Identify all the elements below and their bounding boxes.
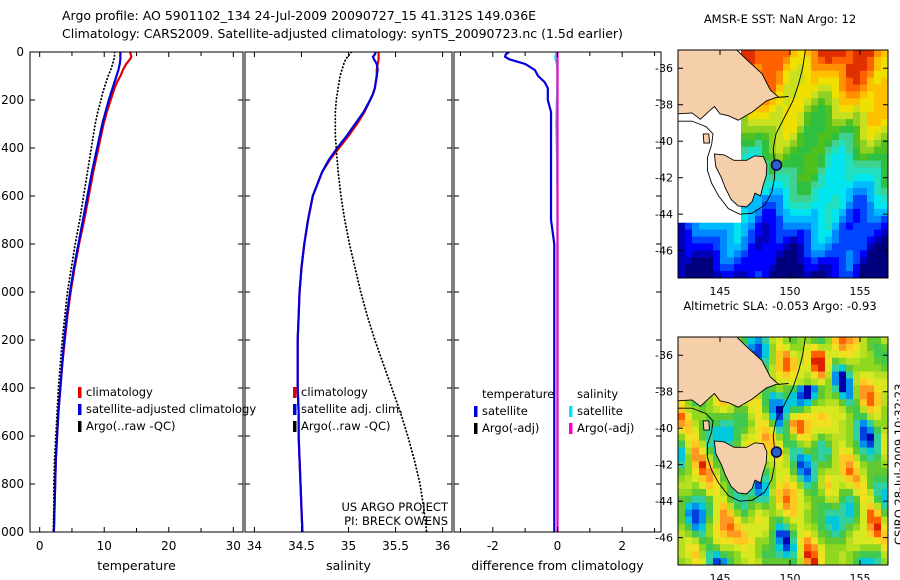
field-cell bbox=[818, 434, 826, 442]
field-cell bbox=[748, 264, 756, 272]
field-cell bbox=[790, 530, 798, 538]
field-cell bbox=[804, 271, 812, 279]
field-cell bbox=[790, 223, 798, 231]
field-cell bbox=[755, 496, 763, 504]
depth-tick-label: 1600 bbox=[0, 429, 24, 443]
field-cell bbox=[804, 243, 812, 251]
field-cell bbox=[839, 257, 847, 265]
field-cell bbox=[874, 78, 882, 86]
field-cell bbox=[699, 454, 707, 462]
field-cell bbox=[720, 551, 728, 559]
field-cell bbox=[811, 230, 819, 238]
legend-label: satellite-adjusted climatology bbox=[86, 402, 256, 416]
field-cell bbox=[741, 558, 749, 566]
field-cell bbox=[734, 551, 742, 559]
field-cell bbox=[881, 133, 889, 141]
field-cell bbox=[846, 202, 854, 210]
depth-tick-label: 1400 bbox=[0, 381, 24, 395]
field-cell bbox=[748, 406, 756, 414]
map-xtick-label: 145 bbox=[710, 285, 731, 298]
field-cell bbox=[846, 468, 854, 476]
field-cell bbox=[713, 544, 721, 552]
field-cell bbox=[839, 544, 847, 552]
field-cell bbox=[797, 517, 805, 525]
field-cell bbox=[811, 544, 819, 552]
field-cell bbox=[846, 517, 854, 525]
field-cell bbox=[741, 420, 749, 428]
field-cell bbox=[867, 558, 875, 566]
field-cell bbox=[678, 496, 686, 504]
field-cell bbox=[769, 351, 777, 359]
field-cell bbox=[790, 71, 798, 79]
field-cell bbox=[818, 50, 826, 58]
field-cell bbox=[706, 230, 714, 238]
field-cell bbox=[685, 420, 693, 428]
field-cell bbox=[741, 140, 749, 148]
field-cell bbox=[797, 558, 805, 566]
sst-map-title: AMSR-E SST: NaN Argo: 12 bbox=[665, 12, 895, 26]
field-cell bbox=[804, 434, 812, 442]
field-cell bbox=[839, 475, 847, 483]
field-cell bbox=[762, 496, 770, 504]
field-cell bbox=[867, 112, 875, 120]
field-cell bbox=[811, 161, 819, 169]
field-cell bbox=[678, 530, 686, 538]
field-cell bbox=[804, 413, 812, 421]
field-cell bbox=[874, 237, 882, 245]
field-cell bbox=[720, 427, 728, 435]
field-cell bbox=[783, 358, 791, 366]
field-cell bbox=[832, 223, 840, 231]
field-cell bbox=[762, 537, 770, 545]
field-cell bbox=[769, 119, 777, 127]
xtick-label: 34 bbox=[247, 539, 262, 553]
field-cell bbox=[874, 209, 882, 217]
field-cell bbox=[853, 337, 861, 345]
field-cell bbox=[839, 358, 847, 366]
field-cell bbox=[804, 257, 812, 265]
field-cell bbox=[748, 209, 756, 217]
field-cell bbox=[860, 188, 868, 196]
field-cell bbox=[685, 230, 693, 238]
field-cell bbox=[846, 119, 854, 127]
field-cell bbox=[776, 530, 784, 538]
field-cell bbox=[741, 510, 749, 518]
field-cell bbox=[811, 524, 819, 532]
field-cell bbox=[846, 271, 854, 279]
field-cell bbox=[804, 378, 812, 386]
field-cell bbox=[825, 243, 833, 251]
field-cell bbox=[762, 250, 770, 258]
field-cell bbox=[860, 551, 868, 559]
field-cell bbox=[790, 406, 798, 414]
field-cell bbox=[776, 468, 784, 476]
field-cell bbox=[860, 216, 868, 224]
field-cell bbox=[874, 372, 882, 380]
field-cell bbox=[832, 482, 840, 490]
field-cell bbox=[811, 372, 819, 380]
field-cell bbox=[867, 71, 875, 79]
field-cell bbox=[790, 188, 798, 196]
map-ytick-label: -36 bbox=[655, 62, 673, 75]
field-cell bbox=[804, 482, 812, 490]
field-cell bbox=[860, 468, 868, 476]
field-cell bbox=[811, 434, 819, 442]
field-cell bbox=[776, 257, 784, 265]
field-cell bbox=[762, 351, 770, 359]
field-cell bbox=[818, 112, 826, 120]
argo-float-marker[interactable] bbox=[772, 160, 782, 170]
field-cell bbox=[776, 112, 784, 120]
field-cell bbox=[797, 427, 805, 435]
field-cell bbox=[860, 441, 868, 449]
field-cell bbox=[727, 237, 735, 245]
field-cell bbox=[860, 365, 868, 373]
field-cell bbox=[818, 551, 826, 559]
field-cell bbox=[804, 202, 812, 210]
field-cell bbox=[881, 119, 889, 127]
field-cell bbox=[776, 85, 784, 93]
field-cell bbox=[853, 64, 861, 72]
field-cell bbox=[776, 537, 784, 545]
field-cell bbox=[783, 482, 791, 490]
field-cell bbox=[846, 195, 854, 203]
field-cell bbox=[790, 161, 798, 169]
field-cell bbox=[706, 537, 714, 545]
field-cell bbox=[727, 551, 735, 559]
field-cell bbox=[755, 434, 763, 442]
field-cell bbox=[790, 250, 798, 258]
legend-swatch bbox=[78, 387, 82, 398]
field-cell bbox=[713, 530, 721, 538]
field-cell bbox=[790, 344, 798, 352]
sst-map: 145150155-36-38-40-42-44-46 bbox=[655, 50, 889, 298]
field-cell bbox=[762, 544, 770, 552]
field-cell bbox=[783, 365, 791, 373]
sla-map: 145150155-36-38-40-42-44-46 bbox=[655, 337, 889, 580]
field-cell bbox=[853, 441, 861, 449]
field-cell bbox=[846, 243, 854, 251]
field-cell bbox=[699, 237, 707, 245]
field-cell bbox=[818, 385, 826, 393]
field-cell bbox=[832, 441, 840, 449]
field-cell bbox=[860, 64, 868, 72]
field-cell bbox=[790, 112, 798, 120]
field-cell bbox=[797, 140, 805, 148]
field-cell bbox=[811, 489, 819, 497]
field-cell bbox=[853, 510, 861, 518]
field-cell bbox=[685, 448, 693, 456]
field-cell bbox=[790, 64, 798, 72]
field-cell bbox=[818, 264, 826, 272]
field-cell bbox=[804, 264, 812, 272]
field-cell bbox=[853, 489, 861, 497]
field-cell bbox=[881, 188, 889, 196]
field-cell bbox=[867, 174, 875, 182]
field-cell bbox=[783, 337, 791, 345]
field-cell bbox=[706, 544, 714, 552]
field-cell bbox=[769, 216, 777, 224]
field-cell bbox=[811, 399, 819, 407]
field-cell bbox=[790, 167, 798, 175]
field-cell bbox=[727, 264, 735, 272]
field-cell bbox=[769, 524, 777, 532]
field-cell bbox=[804, 250, 812, 258]
field-cell bbox=[741, 496, 749, 504]
field-cell bbox=[811, 468, 819, 476]
field-cell bbox=[769, 434, 777, 442]
field-cell bbox=[874, 57, 882, 65]
field-cell bbox=[804, 530, 812, 538]
field-cell bbox=[720, 413, 728, 421]
field-cell bbox=[783, 378, 791, 386]
field-cell bbox=[776, 216, 784, 224]
field-cell bbox=[755, 250, 763, 258]
field-cell bbox=[825, 154, 833, 162]
field-cell bbox=[874, 161, 882, 169]
map-ytick-label: -44 bbox=[655, 495, 673, 508]
field-cell bbox=[797, 243, 805, 251]
field-cell bbox=[762, 216, 770, 224]
field-cell bbox=[811, 441, 819, 449]
field-cell bbox=[867, 230, 875, 238]
series-satellite-adjusted-climatology bbox=[54, 52, 120, 532]
field-cell bbox=[874, 427, 882, 435]
field-cell bbox=[734, 530, 742, 538]
field-cell bbox=[699, 524, 707, 532]
field-cell bbox=[797, 119, 805, 127]
field-cell bbox=[839, 537, 847, 545]
field-cell bbox=[818, 223, 826, 231]
field-cell bbox=[790, 230, 798, 238]
field-cell bbox=[874, 378, 882, 386]
field-cell bbox=[874, 544, 882, 552]
field-cell bbox=[825, 126, 833, 134]
field-cell bbox=[825, 257, 833, 265]
field-cell bbox=[818, 78, 826, 86]
field-cell bbox=[720, 243, 728, 251]
field-cell bbox=[874, 98, 882, 106]
field-cell bbox=[881, 344, 889, 352]
field-cell bbox=[769, 461, 777, 469]
field-cell bbox=[881, 524, 889, 532]
field-cell bbox=[874, 406, 882, 414]
field-cell bbox=[818, 482, 826, 490]
field-cell bbox=[769, 510, 777, 518]
xtick-label: 20 bbox=[161, 539, 176, 553]
field-cell bbox=[867, 544, 875, 552]
field-cell bbox=[860, 230, 868, 238]
field-cell bbox=[874, 489, 882, 497]
field-cell bbox=[804, 64, 812, 72]
field-cell bbox=[832, 195, 840, 203]
field-cell bbox=[839, 85, 847, 93]
field-cell bbox=[734, 544, 742, 552]
field-cell bbox=[839, 344, 847, 352]
field-cell bbox=[860, 91, 868, 99]
field-cell bbox=[783, 475, 791, 483]
field-cell bbox=[881, 517, 889, 525]
field-cell bbox=[860, 496, 868, 504]
field-cell bbox=[692, 489, 700, 497]
field-cell bbox=[832, 119, 840, 127]
field-cell bbox=[825, 237, 833, 245]
field-cell bbox=[846, 181, 854, 189]
field-cell bbox=[832, 530, 840, 538]
field-cell bbox=[790, 271, 798, 279]
field-cell bbox=[776, 337, 784, 345]
field-cell bbox=[881, 264, 889, 272]
field-cell bbox=[790, 461, 798, 469]
field-cell bbox=[818, 64, 826, 72]
field-cell bbox=[881, 503, 889, 511]
field-cell bbox=[776, 406, 784, 414]
field-cell bbox=[776, 517, 784, 525]
field-cell bbox=[797, 105, 805, 113]
field-cell bbox=[783, 420, 791, 428]
field-cell bbox=[874, 461, 882, 469]
field-cell bbox=[741, 427, 749, 435]
field-cell bbox=[832, 551, 840, 559]
field-cell bbox=[762, 64, 770, 72]
field-cell bbox=[692, 558, 700, 566]
argo-float-marker[interactable] bbox=[772, 447, 782, 457]
field-cell bbox=[678, 271, 686, 279]
field-cell bbox=[825, 558, 833, 566]
field-cell bbox=[804, 57, 812, 65]
field-cell bbox=[790, 57, 798, 65]
field-cell bbox=[818, 454, 826, 462]
field-cell bbox=[853, 475, 861, 483]
field-cell bbox=[804, 91, 812, 99]
field-cell bbox=[720, 503, 728, 511]
field-cell bbox=[860, 406, 868, 414]
field-cell bbox=[832, 105, 840, 113]
field-cell bbox=[776, 482, 784, 490]
field-cell bbox=[825, 78, 833, 86]
field-cell bbox=[825, 230, 833, 238]
field-cell bbox=[881, 558, 889, 566]
field-cell bbox=[853, 154, 861, 162]
field-cell bbox=[692, 420, 700, 428]
field-cell bbox=[804, 517, 812, 525]
field-cell bbox=[741, 250, 749, 258]
field-cell bbox=[783, 119, 791, 127]
field-cell bbox=[776, 243, 784, 251]
field-cell bbox=[797, 195, 805, 203]
field-cell bbox=[825, 434, 833, 442]
field-cell bbox=[860, 399, 868, 407]
depth-tick-label: 800 bbox=[1, 237, 24, 251]
field-cell bbox=[832, 454, 840, 462]
field-cell bbox=[846, 372, 854, 380]
field-cell bbox=[860, 119, 868, 127]
field-cell bbox=[881, 78, 889, 86]
field-cell bbox=[811, 420, 819, 428]
field-cell bbox=[846, 344, 854, 352]
field-cell bbox=[734, 257, 742, 265]
field-cell bbox=[874, 482, 882, 490]
field-cell bbox=[797, 250, 805, 258]
field-cell bbox=[818, 188, 826, 196]
field-cell bbox=[825, 537, 833, 545]
field-cell bbox=[881, 167, 889, 175]
field-cell bbox=[692, 413, 700, 421]
field-cell bbox=[762, 510, 770, 518]
field-cell bbox=[874, 85, 882, 93]
field-cell bbox=[867, 427, 875, 435]
field-cell bbox=[874, 475, 882, 483]
field-cell bbox=[741, 237, 749, 245]
field-cell bbox=[874, 257, 882, 265]
field-cell bbox=[839, 427, 847, 435]
field-cell bbox=[846, 365, 854, 373]
field-cell bbox=[783, 372, 791, 380]
field-cell bbox=[790, 489, 798, 497]
field-cell bbox=[811, 271, 819, 279]
field-cell bbox=[685, 530, 693, 538]
field-cell bbox=[874, 399, 882, 407]
field-cell bbox=[797, 50, 805, 58]
field-cell bbox=[846, 264, 854, 272]
field-cell bbox=[867, 98, 875, 106]
x-axis-label: difference from climatology bbox=[471, 558, 644, 573]
field-cell bbox=[692, 468, 700, 476]
field-cell bbox=[783, 195, 791, 203]
field-cell bbox=[783, 427, 791, 435]
field-cell bbox=[797, 188, 805, 196]
field-cell bbox=[783, 271, 791, 279]
field-cell bbox=[713, 461, 721, 469]
field-cell bbox=[678, 264, 686, 272]
field-cell bbox=[860, 461, 868, 469]
series-climatology bbox=[54, 52, 131, 532]
field-cell bbox=[727, 537, 735, 545]
field-cell bbox=[839, 551, 847, 559]
field-cell bbox=[678, 558, 686, 566]
xtick-label: 2 bbox=[618, 539, 626, 553]
field-cell bbox=[853, 461, 861, 469]
field-cell bbox=[748, 119, 756, 127]
field-cell bbox=[762, 126, 770, 134]
field-cell bbox=[811, 91, 819, 99]
field-cell bbox=[783, 448, 791, 456]
field-cell bbox=[867, 154, 875, 162]
field-cell bbox=[762, 188, 770, 196]
field-cell bbox=[832, 378, 840, 386]
field-cell bbox=[790, 237, 798, 245]
field-cell bbox=[804, 365, 812, 373]
field-cell bbox=[881, 337, 889, 345]
field-cell bbox=[776, 237, 784, 245]
field-cell bbox=[762, 50, 770, 58]
field-cell bbox=[755, 524, 763, 532]
field-cell bbox=[734, 237, 742, 245]
field-cell bbox=[769, 57, 777, 65]
field-cell bbox=[874, 530, 882, 538]
field-cell bbox=[762, 434, 770, 442]
csiro-timestamp: CSIRO 28-Jul-2009 10:32:23 bbox=[892, 384, 900, 545]
field-cell bbox=[769, 112, 777, 120]
field-cell bbox=[762, 427, 770, 435]
legend-label: Argo(-adj) bbox=[482, 421, 539, 435]
field-cell bbox=[713, 271, 721, 279]
field-cell bbox=[685, 413, 693, 421]
field-cell bbox=[839, 420, 847, 428]
field-cell bbox=[818, 91, 826, 99]
field-cell bbox=[685, 489, 693, 497]
field-cell bbox=[881, 434, 889, 442]
